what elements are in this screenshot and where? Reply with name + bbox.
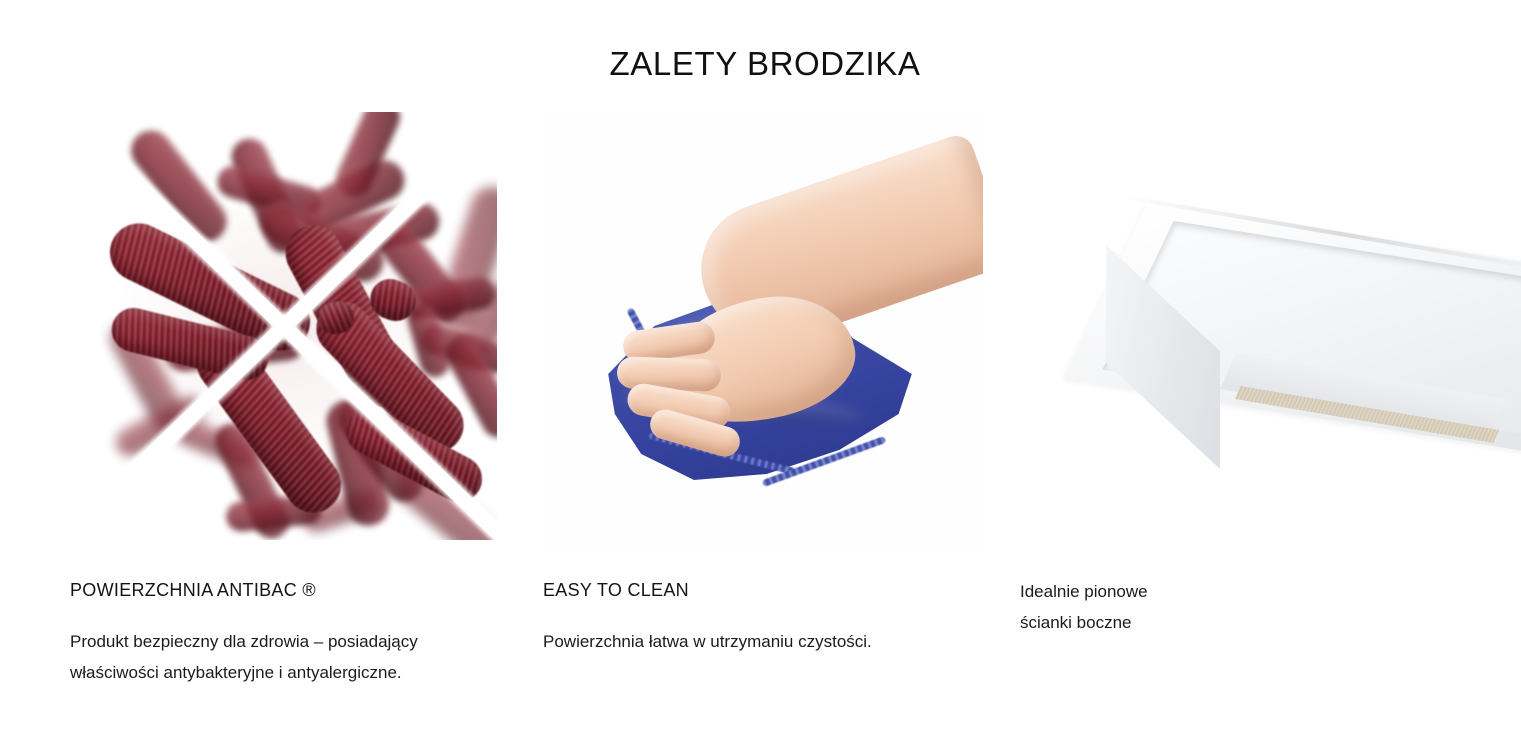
caption-body-easy-to-clean: Powierzchnia łatwa w utrzymaniu czystośc… [543, 626, 983, 657]
caption-line: Idealnie pionowe [1020, 576, 1440, 607]
caption-line: Powierzchnia łatwa w utrzymaniu czystośc… [543, 626, 983, 657]
caption-antibac: POWIERZCHNIA ANTIBAC ® Produkt bezpieczn… [70, 580, 500, 688]
page-title: ZALETY BRODZIKA [0, 44, 1521, 84]
shower-tray-corner-image [1020, 180, 1521, 520]
caption-body-antibac: Produkt bezpieczny dla zdrowia – posiada… [70, 626, 500, 688]
hand-wiping-with-cloth-image [543, 114, 983, 553]
clean-image-canvas [543, 114, 983, 553]
caption-heading-antibac: POWIERZCHNIA ANTIBAC ® [70, 580, 500, 601]
caption-line: właściwości antybakteryjne i antyalergic… [70, 657, 500, 688]
caption-line: Produkt bezpieczny dla zdrowia – posiada… [70, 626, 500, 657]
caption-heading-easy-to-clean: EASY TO CLEAN [543, 580, 983, 601]
caption-easy-to-clean: EASY TO CLEAN Powierzchnia łatwa w utrzy… [543, 580, 983, 657]
caption-body-vertical-walls: Idealnie pionowe ścianki boczne [1020, 576, 1440, 638]
caption-line: ścianki boczne [1020, 607, 1440, 638]
caption-vertical-walls: Idealnie pionowe ścianki boczne [1020, 576, 1440, 638]
bacteria-image-canvas [70, 112, 497, 540]
bacteria-crossed-out-image [70, 112, 497, 540]
